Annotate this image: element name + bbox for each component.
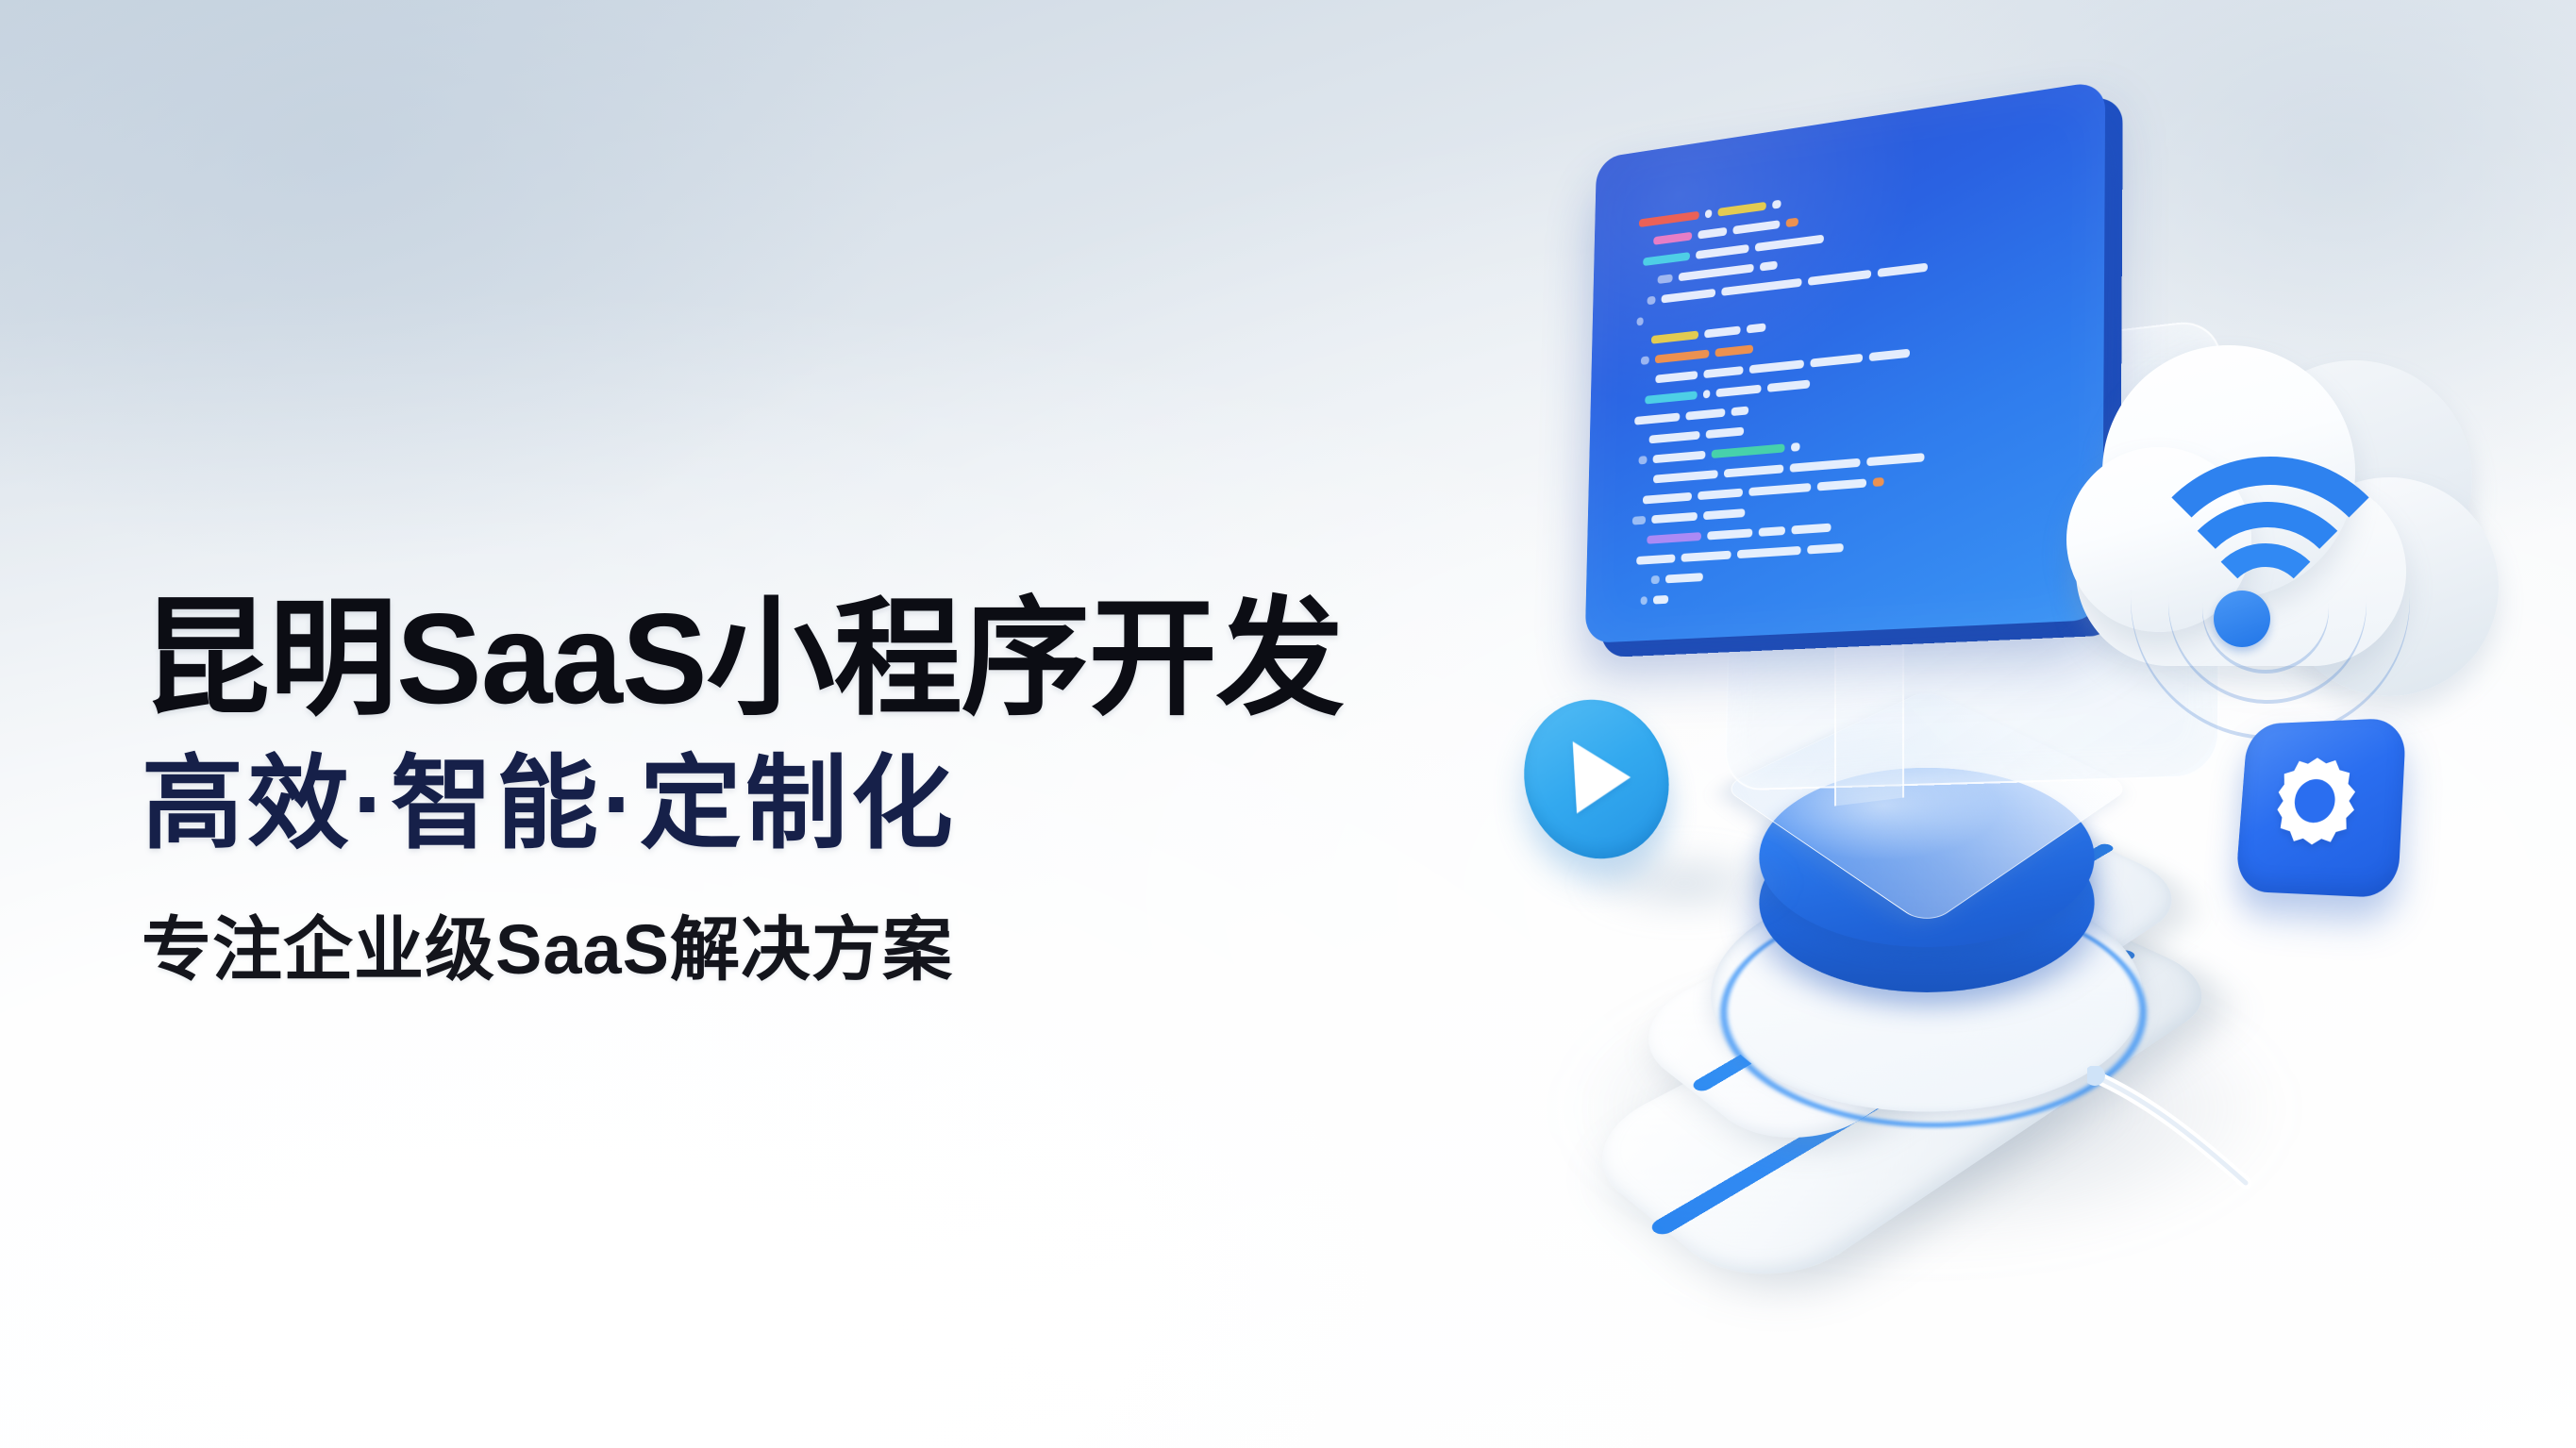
code-token [1748, 483, 1811, 496]
code-token [1749, 359, 1804, 374]
play-icon [1573, 741, 1633, 813]
code-token [1703, 366, 1743, 378]
gear-icon [2267, 751, 2365, 852]
code-token [1653, 232, 1692, 245]
code-token [1696, 244, 1748, 259]
code-token [1649, 431, 1700, 444]
code-token [1632, 516, 1646, 525]
background-sheen-top-left [0, 0, 906, 566]
code-token [1759, 526, 1785, 537]
wifi-icon [2131, 449, 2367, 647]
code-token [1732, 220, 1780, 234]
code-token [1658, 274, 1673, 284]
code-token [1643, 252, 1690, 266]
code-token [1878, 263, 1928, 277]
code-token [1790, 458, 1861, 473]
code-token [1869, 349, 1910, 362]
code-token [1648, 296, 1656, 306]
code-token [1651, 575, 1660, 584]
code-token [1737, 546, 1801, 558]
code-monitor [1585, 80, 2106, 643]
code-token [1707, 528, 1752, 540]
code-token [1755, 235, 1824, 252]
code-lines [1631, 164, 2024, 616]
code-token [1651, 512, 1698, 524]
play-badge[interactable] [1519, 698, 1680, 858]
code-token [1634, 412, 1680, 424]
hero-banner: 昆明SaaS小程序开发 高效·智能·定制化 专注企业级SaaS解决方案 [0, 0, 2576, 1448]
code-token [1705, 209, 1712, 219]
code-token [1791, 524, 1831, 535]
code-token [1703, 390, 1710, 398]
code-token [1653, 451, 1706, 464]
code-token [1698, 489, 1743, 501]
code-token [1791, 442, 1800, 452]
code-token [1662, 289, 1716, 304]
code-token [1681, 551, 1731, 562]
code-token [1703, 508, 1745, 520]
code-token [1647, 532, 1701, 544]
code-token [1760, 260, 1778, 271]
code-token [1645, 391, 1698, 404]
code-token [1641, 596, 1648, 605]
code-token [1685, 408, 1725, 421]
gear-badge[interactable] [2225, 713, 2423, 911]
code-token [1637, 317, 1644, 325]
code-token [1665, 573, 1703, 583]
hero-subtitle: 高效·智能·定制化 [142, 753, 1651, 855]
saas-cloud-3d-illustration [1529, 113, 2510, 1264]
code-token [1639, 211, 1699, 227]
code-token [1653, 470, 1718, 483]
code-token [1641, 356, 1649, 365]
code-token [1717, 202, 1765, 217]
code-token [1679, 264, 1754, 282]
code-token [1767, 379, 1810, 391]
wifi-dot [2214, 591, 2270, 647]
code-token [1706, 427, 1744, 439]
cloud-wifi [2057, 336, 2501, 732]
code-token [1724, 464, 1783, 477]
code-token [1807, 543, 1844, 555]
code-token [1786, 218, 1798, 228]
code-token [1731, 407, 1749, 417]
code-token [1866, 453, 1924, 466]
code-token [1651, 330, 1698, 343]
code-token [1716, 385, 1762, 398]
code-token [1873, 477, 1884, 487]
code-token [1715, 344, 1753, 357]
code-token [1655, 371, 1698, 383]
code-token [1653, 595, 1668, 605]
glass-stand-neck [1834, 637, 1904, 806]
power-cable [2087, 1066, 2314, 1207]
code-token [1817, 478, 1866, 491]
code-token [1721, 278, 1801, 296]
hero-copy-block: 昆明SaaS小程序开发 高效·智能·定制化 专注企业级SaaS解决方案 [142, 594, 1651, 985]
code-token [1636, 554, 1675, 564]
code-token [1639, 456, 1648, 464]
code-token [1655, 349, 1710, 363]
code-token [1643, 492, 1692, 505]
code-token [1712, 443, 1785, 458]
page-title: 昆明SaaS小程序开发 [142, 594, 1651, 723]
code-token [1772, 200, 1781, 209]
code-token [1704, 325, 1740, 338]
code-token [1747, 323, 1766, 333]
code-token [1698, 227, 1727, 240]
hero-tagline: 专注企业级SaaS解决方案 [142, 915, 1651, 985]
code-token [1808, 270, 1871, 286]
code-token [1810, 354, 1863, 368]
